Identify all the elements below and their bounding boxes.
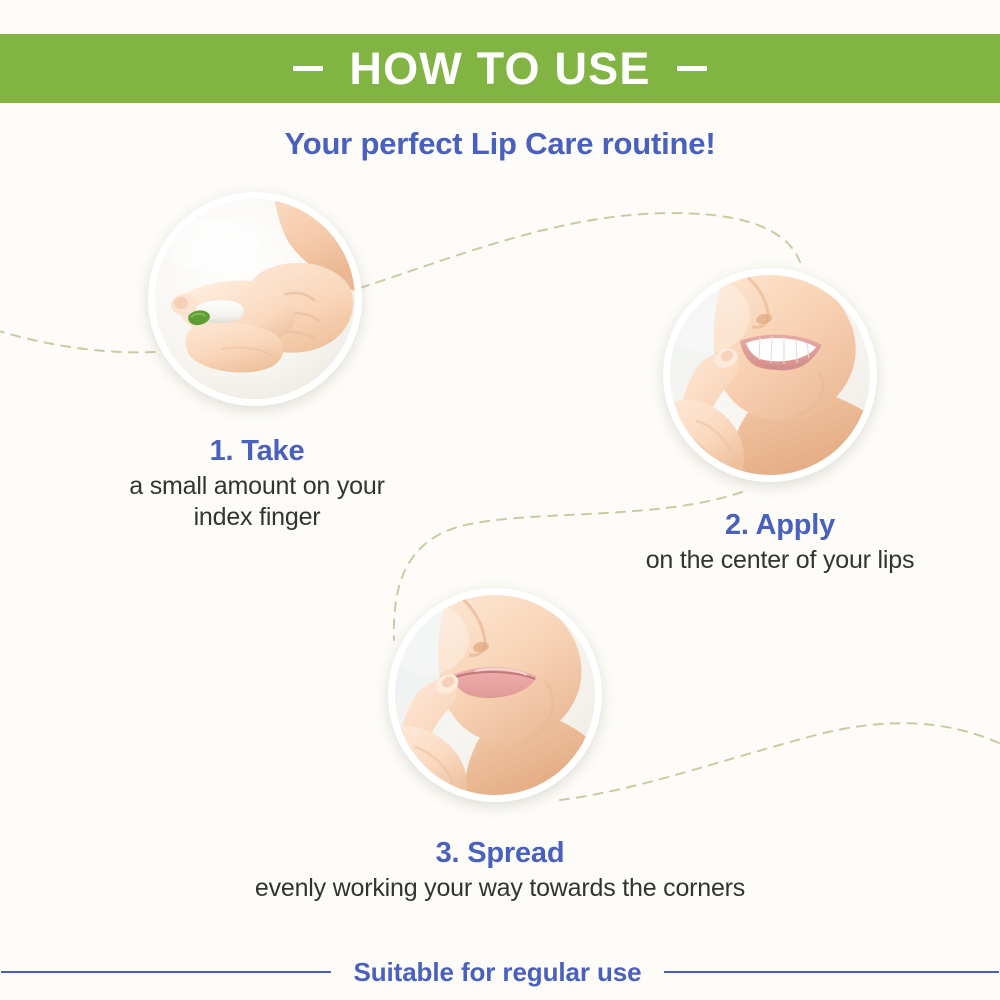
- step-2-photo-bubble: [663, 268, 877, 482]
- footer-text: Suitable for regular use: [353, 957, 641, 988]
- step-2-title: 2. Apply: [585, 510, 975, 541]
- connector-segment-3-to-exit: [560, 723, 1000, 800]
- photo-finger-touching-smiling-lips: [670, 275, 870, 475]
- photo-hands-holding-product: [155, 199, 355, 399]
- step-1-title: 1. Take: [70, 436, 444, 467]
- footer-right-rule: [664, 971, 999, 973]
- page-title: HOW TO USE: [349, 46, 650, 91]
- header-band: HOW TO USE: [0, 34, 1000, 103]
- step-3-body-line-1: evenly working your way towards the corn…: [255, 874, 745, 902]
- step-3-title: 3. Spread: [180, 838, 820, 869]
- step-2-photo-frame: [670, 275, 870, 475]
- step-1-photo-frame: [155, 199, 355, 399]
- step-3-photo-bubble: [388, 588, 602, 802]
- step-2-body: on the center of your lips: [585, 545, 975, 576]
- footer-left-rule: [1, 971, 331, 973]
- step-1-photo-bubble: [148, 192, 362, 406]
- step-3-photo-frame: [395, 595, 595, 795]
- header-right-dash-icon: [677, 66, 707, 71]
- step-2-caption: 2. Apply on the center of your lips: [585, 510, 975, 576]
- infographic-canvas: HOW TO USE Your perfect Lip Care routine…: [0, 0, 1000, 1000]
- header-left-dash-icon: [293, 66, 323, 71]
- step-1-body-line-2: index finger: [194, 503, 321, 531]
- step-1-body-line-1: a small amount on your: [129, 472, 384, 500]
- footer: Suitable for regular use: [0, 950, 1000, 994]
- step-3-body: evenly working your way towards the corn…: [180, 873, 820, 904]
- step-1-body: a small amount on your index finger: [70, 471, 444, 532]
- step-3-caption: 3. Spread evenly working your way toward…: [180, 838, 820, 904]
- photo-finger-spreading-balm-on-lips: [395, 595, 595, 795]
- subtitle: Your perfect Lip Care routine!: [0, 126, 1000, 162]
- step-2-body-line-1: on the center of your lips: [646, 546, 915, 574]
- step-1-caption: 1. Take a small amount on your index fin…: [70, 436, 444, 532]
